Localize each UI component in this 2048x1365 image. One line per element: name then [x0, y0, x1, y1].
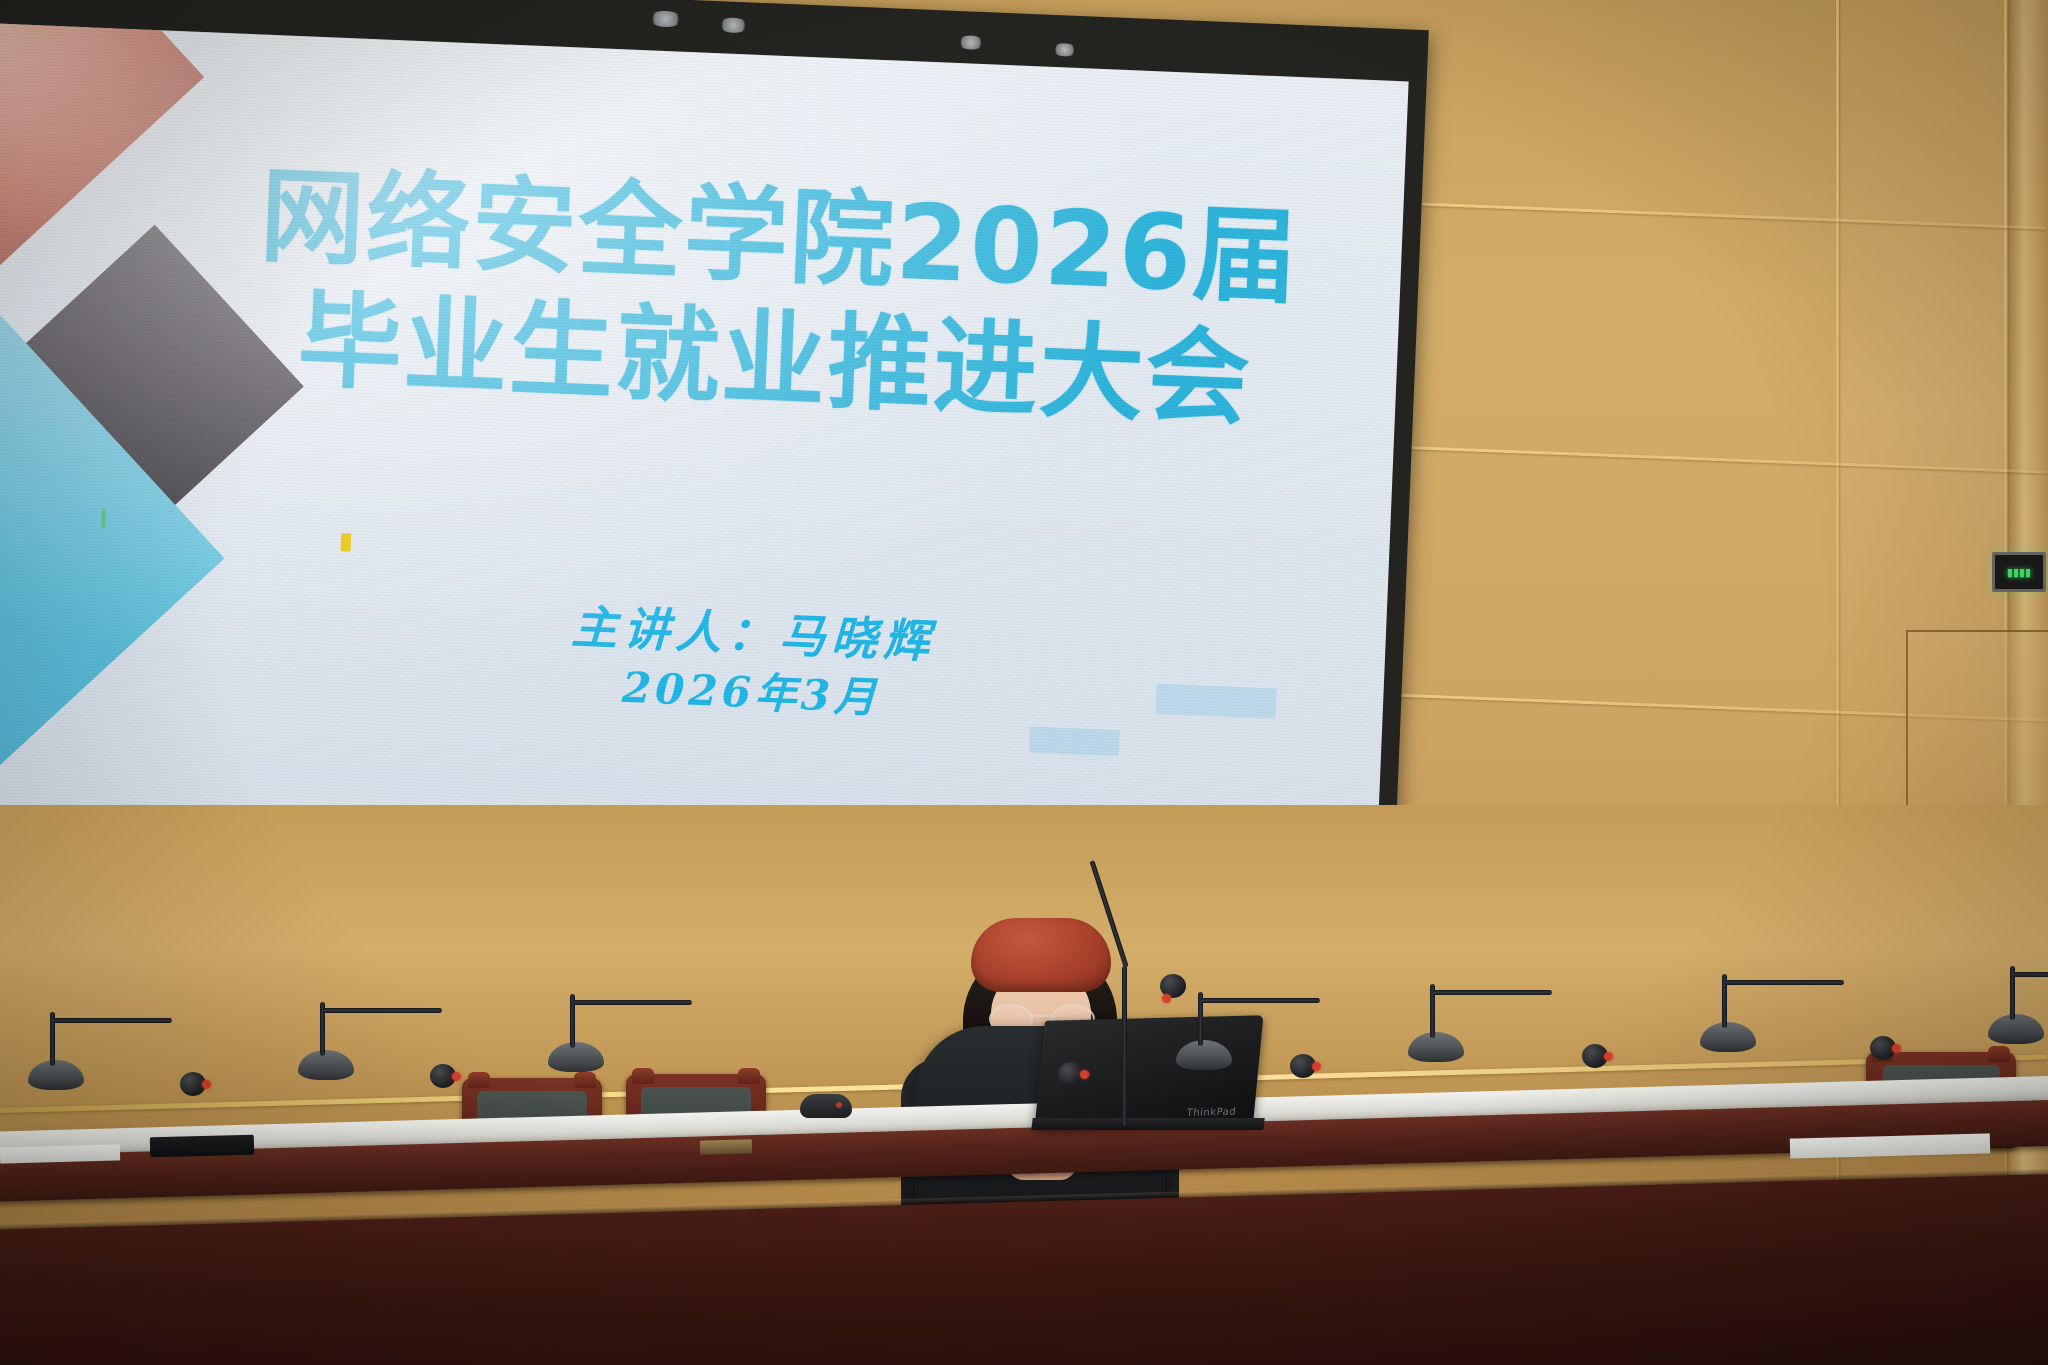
laptop-hinge: [1031, 1118, 1264, 1130]
microphone-6-ring: [1604, 1052, 1613, 1061]
chair-center-finial-right: [738, 1068, 760, 1084]
microphone-speaker-ring: [1162, 994, 1171, 1003]
microphone-2-ring: [202, 1080, 211, 1089]
led-screen: 网络安全学院2026届 毕业生就业推进大会 主讲人：马晓辉 2026年3月: [0, 0, 1429, 910]
chair-right-finial-right: [1988, 1046, 2010, 1062]
microphone-5-arm: [1432, 990, 1552, 995]
name-plate: [150, 1135, 254, 1158]
microphone-7-arm: [2012, 972, 2048, 977]
chair-center-finial-left: [632, 1068, 654, 1084]
led-stray-pixel-green: [101, 508, 106, 528]
microphone-2-arm: [322, 1008, 442, 1013]
chair-left-finial-right: [574, 1072, 596, 1088]
microphone-3-arm: [572, 1000, 692, 1005]
exit-sign-label: ▮▮▮▮: [2007, 567, 2031, 578]
speaker-beret: [971, 918, 1111, 992]
slide-subtitle: 主讲人：马晓辉 2026年3月: [310, 585, 1194, 740]
led-stray-block-teal-1: [1156, 684, 1277, 719]
microphone-3-ring: [452, 1072, 461, 1081]
slide-title: 网络安全学院2026届 毕业生就业推进大会: [243, 154, 1312, 443]
wall-vertical-seam-a: [1836, 0, 1839, 1365]
microphone-speaker-neck: [1122, 966, 1127, 1126]
screen-display-area: 网络安全学院2026届 毕业生就业推进大会 主讲人：马晓辉 2026年3月: [0, 22, 1409, 867]
mouse-indicator-dot: [836, 1102, 842, 1108]
led-stray-block-teal-2: [1029, 727, 1120, 757]
microphone-1-arm: [52, 1018, 172, 1023]
led-stray-pixel-yellow: [340, 533, 351, 551]
computer-mouse: [800, 1094, 852, 1118]
microphone-4-arm: [1200, 998, 1320, 1003]
microphone-6-arm: [1724, 980, 1844, 985]
microphone-4-ring: [1080, 1070, 1089, 1079]
microphone-7-ring: [1892, 1044, 1901, 1053]
small-box-on-table: [700, 1139, 752, 1154]
chair-left-finial-left: [468, 1072, 490, 1088]
emergency-exit-sign: ▮▮▮▮: [1992, 552, 2046, 592]
photo-stage: ▮▮▮▮ 网络安全学院2026届 毕业生就业推进大会 主讲人：马晓辉 2026: [0, 0, 2048, 1365]
microphone-5-ring: [1312, 1062, 1321, 1071]
paper-sheet-left: [0, 1144, 120, 1163]
